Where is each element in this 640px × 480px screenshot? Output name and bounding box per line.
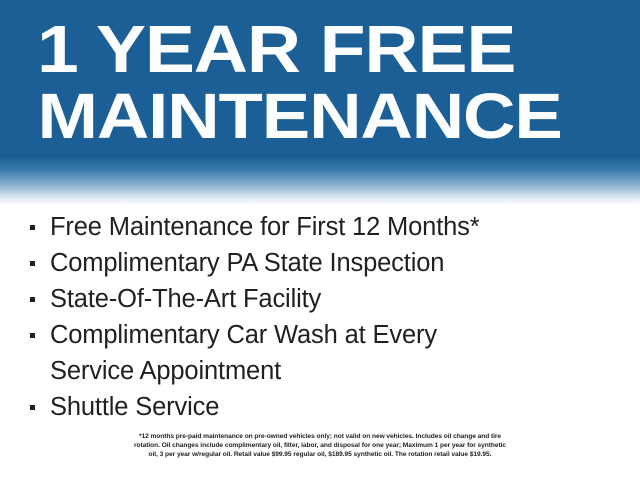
bullet-square-icon xyxy=(30,297,35,302)
list-item: State-Of-The-Art Facility xyxy=(0,281,640,317)
list-item-label: Complimentary PA State Inspection xyxy=(50,245,640,281)
disclaimer-text: *12 months pre-paid maintenance on pre-o… xyxy=(0,432,640,459)
list-item: Free Maintenance for First 12 Months* xyxy=(0,209,640,245)
list-item-label: Shuttle Service xyxy=(50,389,640,425)
list-item-label: Complimentary Car Wash at Every xyxy=(50,317,640,353)
disclaimer-line-1: *12 months pre-paid maintenance on pre-o… xyxy=(0,432,640,441)
benefits-list: Free Maintenance for First 12 Months* Co… xyxy=(0,209,640,425)
list-item: Shuttle Service xyxy=(0,389,640,425)
maintenance-offer-ad: 1 YEAR FREE MAINTENANCE Free Maintenance… xyxy=(0,0,640,480)
bullet-square-icon xyxy=(30,333,35,338)
bullet-square-icon xyxy=(30,261,35,266)
banner-gradient-fade xyxy=(0,157,640,205)
list-item-label: Service Appointment xyxy=(50,353,640,389)
list-item: Complimentary PA State Inspection xyxy=(0,245,640,281)
list-item-label: State-Of-The-Art Facility xyxy=(50,281,640,317)
bullet-square-icon xyxy=(30,405,35,410)
list-item-continuation: Service Appointment xyxy=(0,353,640,389)
headline-line-2: MAINTENANCE xyxy=(0,84,640,148)
disclaimer-line-2: rotation. Oil changes include compliment… xyxy=(0,441,640,450)
bullet-square-icon xyxy=(30,225,35,230)
list-item-label: Free Maintenance for First 12 Months* xyxy=(50,209,640,245)
disclaimer-line-3: oil, 3 per year w/regular oil. Retail va… xyxy=(0,450,640,459)
list-item: Complimentary Car Wash at Every xyxy=(0,317,640,353)
bullet-square-icon-placeholder xyxy=(30,369,35,374)
header-banner: 1 YEAR FREE MAINTENANCE xyxy=(0,0,640,205)
headline-line-1: 1 YEAR FREE xyxy=(0,16,640,83)
